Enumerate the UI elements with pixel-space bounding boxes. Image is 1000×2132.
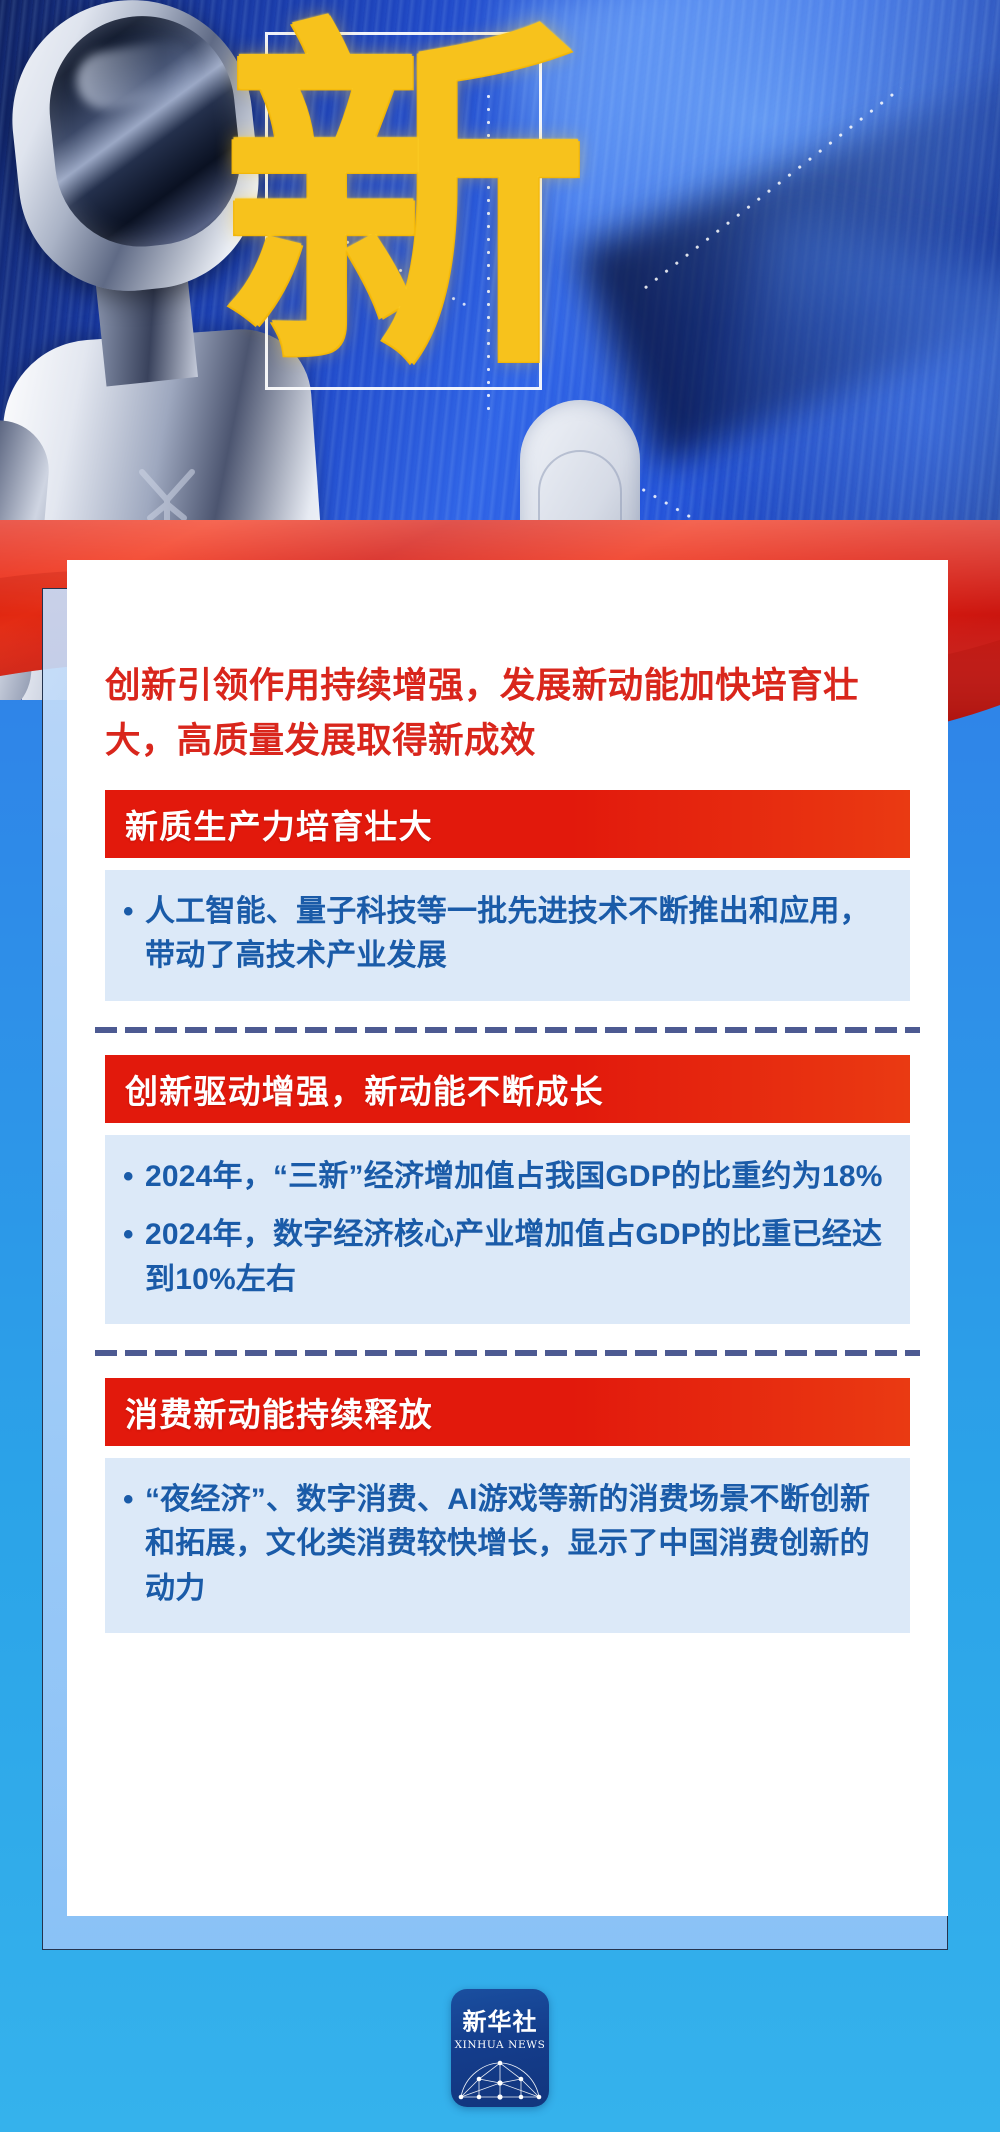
bullet-text: 人工智能、量子科技等一批先进技术不断推出和应用，带动了高技术产业发展 <box>145 890 886 979</box>
bullet-text: 2024年，数字经济核心产业增加值占GDP的比重已经达到10%左右 <box>145 1213 886 1302</box>
section-2-body: • 2024年，“三新”经济增加值占我国GDP的比重约为18% • 2024年，… <box>105 1135 910 1324</box>
list-item: • 2024年，数字经济核心产业增加值占GDP的比重已经达到10%左右 <box>123 1213 886 1302</box>
section-1-banner: 新质生产力培育壮大 <box>105 790 910 858</box>
section-divider-1 <box>95 1027 920 1033</box>
bullet-marker-icon: • <box>123 890 145 979</box>
list-item: • “夜经济”、数字消费、AI游戏等新的消费场景不断创新和拓展，文化类消费较快增… <box>123 1478 886 1611</box>
footer: 新华社 XINHUA NEWS <box>0 1975 1000 2132</box>
section-1-body: • 人工智能、量子科技等一批先进技术不断推出和应用，带动了高技术产业发展 <box>105 870 910 1001</box>
page-headline: 创新引领作用持续增强，发展新动能加快培育壮大，高质量发展取得新成效 <box>95 658 920 768</box>
section-3-title: 消费新动能持续释放 <box>125 1388 433 1436</box>
bullet-marker-icon: • <box>123 1213 145 1302</box>
section-2-banner: 创新驱动增强，新动能不断成长 <box>105 1055 910 1123</box>
xinhua-logo[interactable]: 新华社 XINHUA NEWS <box>451 1989 549 2107</box>
section-divider-2 <box>95 1350 920 1356</box>
bullet-text: “夜经济”、数字消费、AI游戏等新的消费场景不断创新和拓展，文化类消费较快增长，… <box>145 1478 886 1611</box>
section-3-body: • “夜经济”、数字消费、AI游戏等新的消费场景不断创新和拓展，文化类消费较快增… <box>105 1458 910 1633</box>
list-item: • 人工智能、量子科技等一批先进技术不断推出和应用，带动了高技术产业发展 <box>123 890 886 979</box>
list-item: • 2024年，“三新”经济增加值占我国GDP的比重约为18% <box>123 1155 886 1199</box>
section-1: 新质生产力培育壮大 • 人工智能、量子科技等一批先进技术不断推出和应用，带动了高… <box>95 790 920 1001</box>
bullet-text: 2024年，“三新”经济增加值占我国GDP的比重约为18% <box>145 1155 886 1199</box>
section-2: 创新驱动增强，新动能不断成长 • 2024年，“三新”经济增加值占我国GDP的比… <box>95 1055 920 1324</box>
section-3-banner: 消费新动能持续释放 <box>105 1378 910 1446</box>
section-1-title: 新质生产力培育壮大 <box>125 800 433 848</box>
xinhua-logo-cn-text: 新华社 <box>463 2002 538 2037</box>
section-3: 消费新动能持续释放 • “夜经济”、数字消费、AI游戏等新的消费场景不断创新和拓… <box>95 1378 920 1633</box>
section-2-title: 创新驱动增强，新动能不断成长 <box>125 1065 604 1113</box>
calligraphy-xin-character: 新 <box>215 18 595 413</box>
content-card: 创新引领作用持续增强，发展新动能加快培育壮大，高质量发展取得新成效 新质生产力培… <box>67 560 948 1916</box>
xinhua-logo-en-text: XINHUA NEWS <box>455 2039 546 2051</box>
xinhua-network-globe-icon <box>451 2053 549 2105</box>
bullet-marker-icon: • <box>123 1478 145 1611</box>
bullet-marker-icon: • <box>123 1155 145 1199</box>
